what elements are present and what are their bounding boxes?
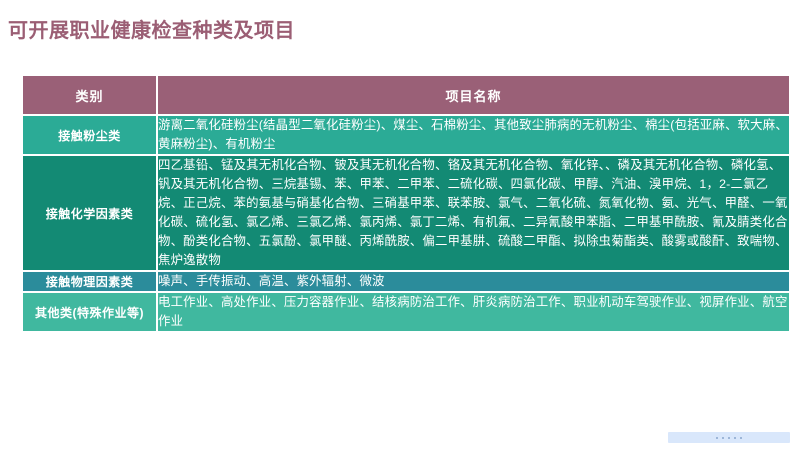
table-row: 接触粉尘类 游离二氧化硅粉尘(结晶型二氧化硅粉尘)、煤尘、石棉粉尘、其他致尘肺病… (22, 115, 790, 155)
strip-dots-icon (716, 437, 742, 439)
occupational-health-exam-table: 类别 项目名称 接触粉尘类 游离二氧化硅粉尘(结晶型二氧化硅粉尘)、煤尘、石棉粉… (22, 75, 790, 332)
column-header-category: 类别 (22, 75, 157, 115)
table-header: 类别 项目名称 (22, 75, 790, 115)
row-items-dust: 游离二氧化硅粉尘(结晶型二氧化硅粉尘)、煤尘、石棉粉尘、其他致尘肺病的无机粉尘、… (157, 115, 790, 155)
table-row: 接触物理因素类 噪声、手传振动、高温、紫外辐射、微波 (22, 271, 790, 292)
bottom-overlay-strip (668, 432, 790, 443)
table-row: 其他类(特殊作业等) 电工作业、高处作业、压力容器作业、结核病防治工作、肝炎病防… (22, 292, 790, 332)
row-category-physical: 接触物理因素类 (22, 271, 157, 292)
column-header-item-name: 项目名称 (157, 75, 790, 115)
row-category-other: 其他类(特殊作业等) (22, 292, 157, 332)
row-items-other: 电工作业、高处作业、压力容器作业、结核病防治工作、肝炎病防治工作、职业机动车驾驶… (157, 292, 790, 332)
row-items-chemical: 四乙基铅、锰及其无机化合物、铍及其无机化合物、铬及其无机化合物、氧化锌、、磷及其… (157, 155, 790, 271)
row-category-dust: 接触粉尘类 (22, 115, 157, 155)
page-title: 可开展职业健康检查种类及项目 (8, 14, 295, 43)
row-category-chemical: 接触化学因素类 (22, 155, 157, 271)
table-row: 接触化学因素类 四乙基铅、锰及其无机化合物、铍及其无机化合物、铬及其无机化合物、… (22, 155, 790, 271)
table-header-row: 类别 项目名称 (22, 75, 790, 115)
table-body: 接触粉尘类 游离二氧化硅粉尘(结晶型二氧化硅粉尘)、煤尘、石棉粉尘、其他致尘肺病… (22, 115, 790, 332)
row-items-physical: 噪声、手传振动、高温、紫外辐射、微波 (157, 271, 790, 292)
slide-canvas: 可开展职业健康检查种类及项目 类别 项目名称 接触粉尘类 游离二氧化硅粉尘(结晶… (0, 0, 800, 450)
